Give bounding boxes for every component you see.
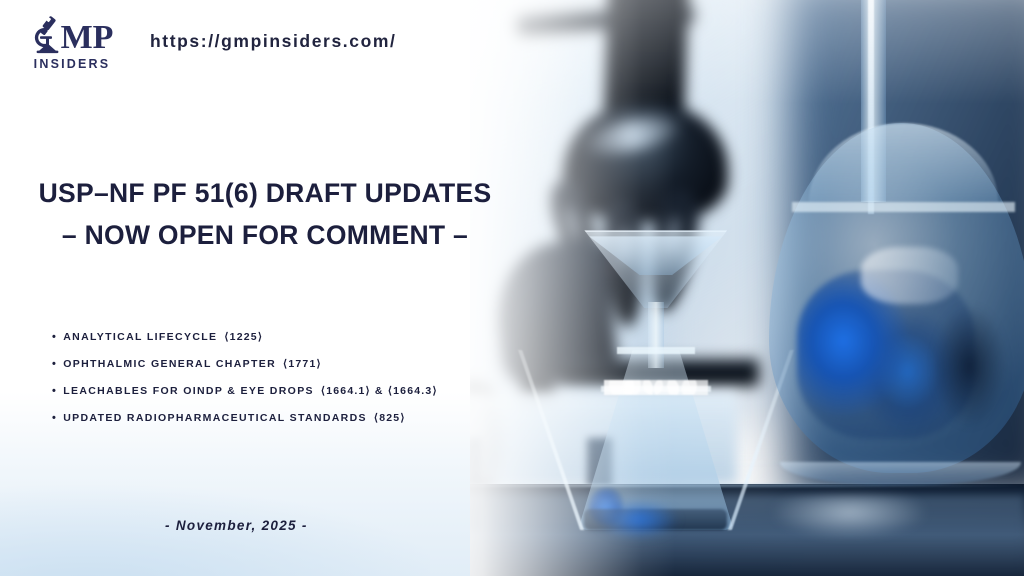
gmp-insiders-logo[interactable]: MP INSIDERS: [24, 14, 120, 71]
logo-mark: MP: [31, 14, 114, 56]
bullet-reference: ⟨1664.1⟩ & ⟨1664.3⟩: [321, 384, 438, 398]
list-item: • LEACHABLES FOR OINDP & EYE DROPS ⟨1664…: [52, 384, 472, 398]
list-item: • ANALYTICAL LIFECYCLE ⟨1225⟩: [52, 330, 472, 344]
title-line-1: USP–NF PF 51(6) DRAFT UPDATES: [0, 172, 530, 214]
bullet-text: OPHTHALMIC GENERAL CHAPTER: [63, 357, 276, 371]
title-line-2: – NOW OPEN FOR COMMENT –: [0, 214, 530, 256]
microscope-icon: [31, 16, 65, 56]
site-url[interactable]: https://gmpinsiders.com/: [150, 31, 396, 52]
bullet-reference: ⟨1771⟩: [283, 357, 322, 371]
list-item: • UPDATED RADIOPHARMACEUTICAL STANDARDS …: [52, 411, 472, 425]
list-item: • OPHTHALMIC GENERAL CHAPTER ⟨1771⟩: [52, 357, 472, 371]
publication-date: - November, 2025 -: [165, 518, 308, 533]
logo-tagline: INSIDERS: [34, 57, 111, 71]
poster-canvas: MP INSIDERS https://gmpinsiders.com/ USP…: [0, 0, 1024, 576]
bullet-dot-icon: •: [52, 330, 57, 344]
bullet-text: ANALYTICAL LIFECYCLE: [63, 330, 217, 344]
poster-content: MP INSIDERS https://gmpinsiders.com/ USP…: [0, 0, 1024, 576]
bullet-reference: ⟨1225⟩: [224, 330, 263, 344]
page-title: USP–NF PF 51(6) DRAFT UPDATES – NOW OPEN…: [0, 172, 530, 256]
bullet-reference: ⟨825⟩: [374, 411, 406, 425]
bullet-text: UPDATED RADIOPHARMACEUTICAL STANDARDS: [63, 411, 367, 425]
header: MP INSIDERS https://gmpinsiders.com/: [24, 14, 396, 71]
bullet-dot-icon: •: [52, 357, 57, 371]
bullet-dot-icon: •: [52, 411, 57, 425]
bullet-text: LEACHABLES FOR OINDP & EYE DROPS: [63, 384, 314, 398]
bullet-dot-icon: •: [52, 384, 57, 398]
bullet-list: • ANALYTICAL LIFECYCLE ⟨1225⟩ • OPHTHALM…: [52, 330, 472, 438]
logo-wordmark: MP: [61, 20, 114, 56]
